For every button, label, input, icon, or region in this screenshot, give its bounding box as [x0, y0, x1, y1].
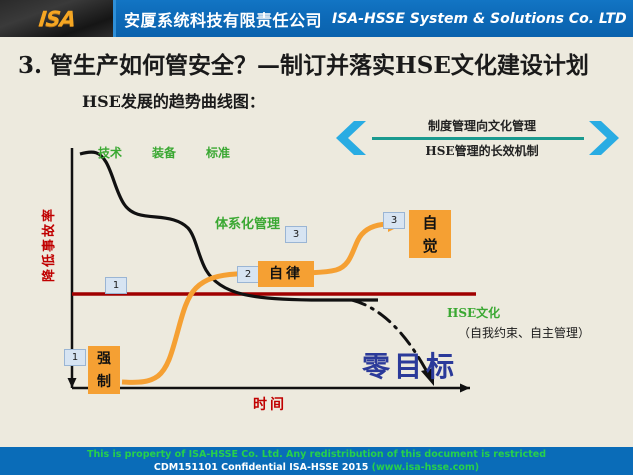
- hse-trend-chart: 技术 装备 标准 体系化管理 降低事故率 时间 1 1 2 3 3 强制 自律 …: [0, 130, 633, 420]
- zero-goal-label: 零目标: [362, 345, 458, 385]
- company-name-cn: 安厦系统科技有限责任公司: [124, 7, 322, 31]
- tech-label: 技术: [98, 144, 122, 161]
- marker-number-2-stage: 2: [237, 266, 259, 283]
- slide-footer: This is property of ISA-HSSE Co. Ltd. An…: [0, 447, 633, 475]
- isa-logo-icon: ISA: [25, 8, 89, 30]
- footer-website-link[interactable]: (www.isa-hsse.com): [372, 462, 479, 473]
- stage-box-self-discipline: 自律: [258, 261, 314, 287]
- company-name-en: ISA-HSSE System & Solutions Co. LTD: [332, 11, 627, 27]
- hse-culture-label: HSE文化: [447, 304, 500, 321]
- marker-number-3-systematic: 3: [285, 226, 307, 243]
- management-curve: [122, 224, 390, 382]
- standard-label: 标准: [206, 144, 230, 161]
- stage-box-mandatory: 强制: [88, 346, 120, 394]
- page-title: 3. 管生产如何管安全？—制订并落实HSE文化建设计划: [18, 46, 618, 80]
- marker-number-3-stage: 3: [383, 212, 405, 229]
- marker-number-1-baseline: 1: [105, 277, 127, 294]
- slide-header: ISA 安厦系统科技有限责任公司 ISA-HSSE System & Solut…: [0, 0, 633, 37]
- y-axis-label: 降低事故率: [38, 172, 56, 282]
- footer-doc-id: CDM151101 Confidential ISA-HSSE 2015: [154, 462, 372, 473]
- equip-label: 装备: [152, 144, 176, 161]
- systematic-mgmt-label: 体系化管理: [215, 213, 280, 232]
- footer-confidential-line: CDM151101 Confidential ISA-HSSE 2015 (ww…: [0, 462, 633, 473]
- marker-number-1-stage: 1: [64, 349, 86, 366]
- footer-copyright-line: This is property of ISA-HSSE Co. Ltd. An…: [0, 449, 633, 460]
- page-subtitle: HSE发展的趋势曲线图：: [82, 88, 265, 112]
- stage-box-self-awareness: 自觉: [409, 210, 451, 258]
- header-band-edge: [113, 0, 116, 37]
- x-axis-label: 时间: [253, 394, 287, 414]
- hse-culture-sublabel: （自我约束、自主管理）: [458, 324, 590, 341]
- header-title-group: 安厦系统科技有限责任公司 ISA-HSSE System & Solutions…: [124, 6, 627, 32]
